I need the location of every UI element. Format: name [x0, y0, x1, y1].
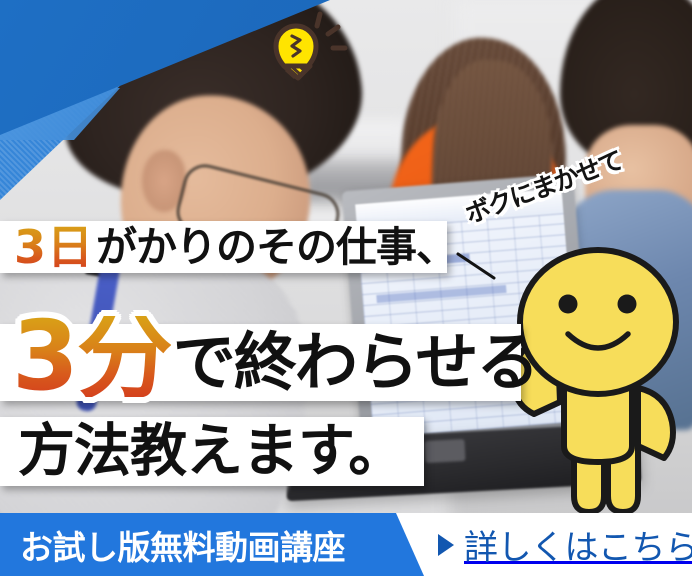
headline-line2-accent: 3分 — [12, 316, 171, 397]
details-link-label: 詳しくはこちら — [464, 520, 692, 569]
cta-bar: お試し版無料動画講座 詳しくはこちら — [0, 513, 692, 576]
lightbulb-icon — [262, 8, 348, 84]
headline-line1-text: がかりのその仕事、 — [96, 227, 456, 268]
photo-laptop-touchpad — [424, 439, 465, 463]
headline-band-line2: 3分 で終わらせる — [0, 324, 521, 401]
headline-line3-text: 方法教えます。 — [18, 423, 404, 480]
headline-line2-text: で終わらせる — [173, 331, 538, 394]
details-link[interactable]: 詳しくはこちら — [438, 513, 692, 576]
speech-pointer-line-icon — [456, 252, 496, 280]
play-triangle-icon — [438, 534, 454, 556]
headline-line1-accent: 3日 — [14, 224, 94, 270]
free-trial-course-label: お試し版無料動画講座 — [20, 521, 345, 569]
headline-band-line3: 方法教えます。 — [0, 417, 424, 486]
headline-band-line1: 3日 がかりのその仕事、 — [0, 221, 447, 273]
free-trial-course-button[interactable]: お試し版無料動画講座 — [0, 513, 425, 576]
promo-banner: ボクにまかせて 3日 — [0, 0, 692, 576]
